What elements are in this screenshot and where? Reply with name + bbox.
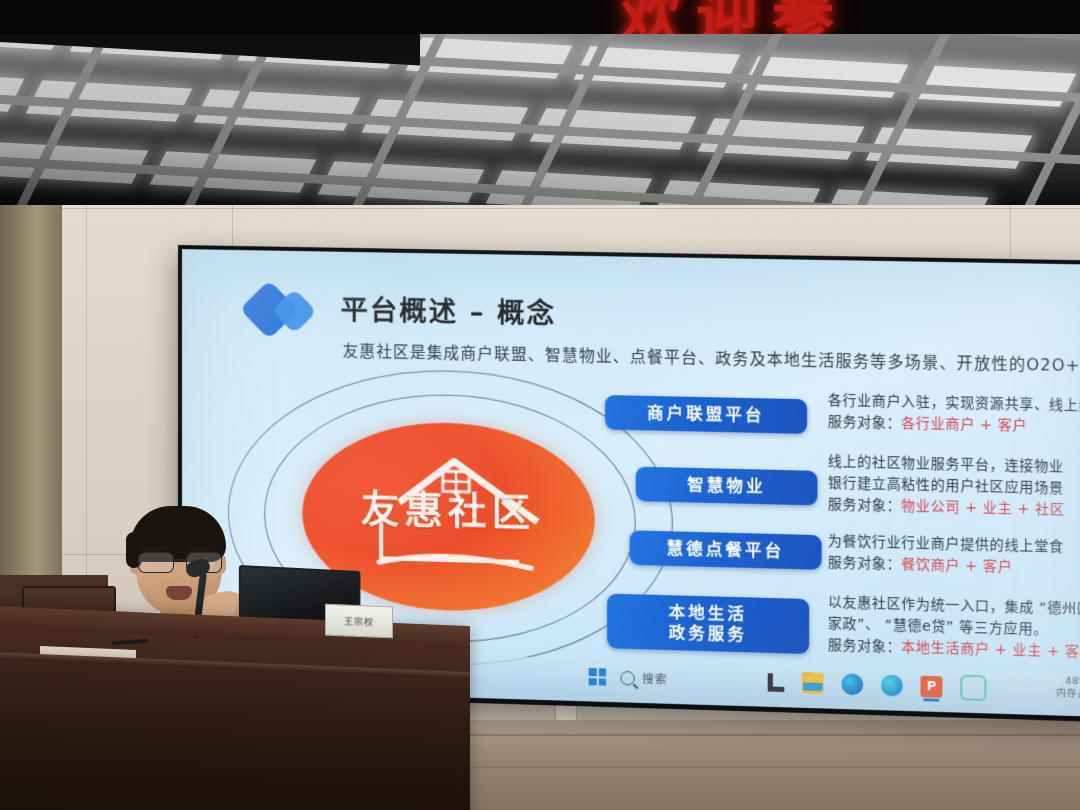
curtain (0, 170, 62, 590)
nameplate-text: 王宗权 (344, 614, 374, 628)
pill-local-life-gov[interactable]: 本地生活 政务服务 (607, 594, 809, 654)
search-icon (620, 670, 634, 685)
service-value: 餐饮商户 + 客户 (901, 556, 1012, 575)
service-label: 服务对象： (828, 414, 901, 432)
start-button-icon[interactable] (589, 668, 606, 686)
folder-icon[interactable] (802, 672, 824, 694)
desc-local-life-gov: 以友惠社区作为统一入口，集成 “德州区 家政”、 “慧德e贷” 等三方应用。 服… (828, 592, 1080, 664)
edge-icon[interactable] (841, 673, 863, 695)
led-banner: 欢迎参 (0, 0, 1080, 34)
memory-usage-indicator: 48% 内存占用 (1056, 675, 1080, 701)
edge-legacy-icon[interactable] (881, 674, 903, 696)
desc-merchant-alliance: 各行业商户入驻，实现资源共享、线上线下 服务对象：各行业商户 + 客户 (828, 391, 1080, 440)
desc-ordering-platform: 为餐饮行业行业商户提供的线上堂食 服务对象：餐饮商户 + 客户 (828, 531, 1064, 580)
pill-ordering-platform[interactable]: 慧德点餐平台 (630, 530, 822, 569)
photo-scene: 欢迎参 平台概述 – 概念 友惠社区是集成商户联盟、智慧物业、点餐平 (0, 0, 1080, 810)
file-explorer-icon[interactable] (768, 673, 785, 692)
taskbar-search-label: 搜索 (642, 670, 668, 687)
nameplate: 王宗权 (325, 604, 393, 639)
service-value: 物业公司 + 业主 + 社区 (901, 498, 1065, 518)
service-value: 各行业商户 + 客户 (901, 415, 1027, 434)
taskbar-search[interactable]: 搜索 (620, 669, 667, 687)
powerpoint-icon[interactable]: P (921, 676, 943, 698)
glasses-icon (134, 552, 226, 572)
memory-usage-label: 内存占用 (1056, 688, 1080, 701)
service-label: 服务对象： (828, 637, 901, 655)
service-value: 本地生活商户 + 业主 + 客户 (901, 639, 1080, 661)
led-banner-text: 欢迎参 (620, 0, 848, 34)
slide-title: 平台概述 – 概念 (341, 288, 557, 331)
desc-service-row: 服务对象：物业公司 + 业主 + 社区 (828, 494, 1065, 521)
pill-local-life-gov-line2: 政务服务 (669, 623, 747, 645)
pill-smart-property[interactable]: 智慧物业 (636, 467, 818, 506)
service-label: 服务对象： (828, 496, 901, 514)
diamond-decoration-icon (248, 286, 330, 334)
chat-icon[interactable] (960, 675, 986, 701)
pill-local-life-gov-line1: 本地生活 (669, 603, 747, 625)
service-label: 服务对象： (828, 555, 901, 573)
pill-merchant-alliance[interactable]: 商户联盟平台 (605, 395, 807, 434)
community-logo-text: 友惠社区 (302, 476, 594, 539)
desc-smart-property: 线上的社区物业服务平台，连接物业 银行建立高粘性的用户社区应用场景 服务对象：物… (828, 452, 1065, 522)
